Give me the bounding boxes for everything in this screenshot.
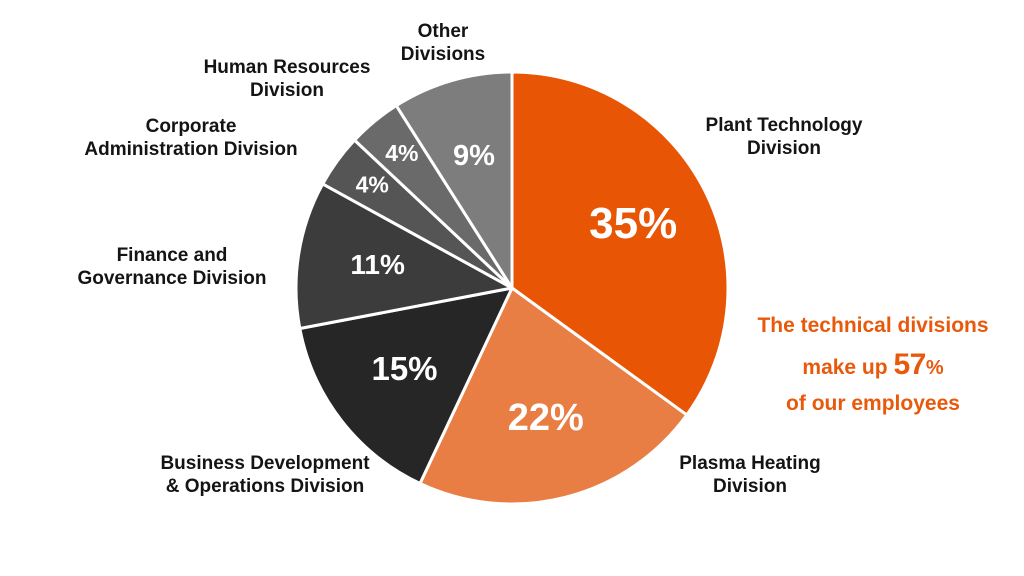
pie-value-finance-governance: 11% — [350, 249, 405, 280]
annotation-line-2-prefix: make up — [802, 356, 893, 379]
annotation-callout: The technical divisions make up 57% of o… — [728, 310, 1018, 419]
pie-value-business-development: 15% — [371, 350, 437, 387]
slice-label-plasma-heating: Plasma Heating Division — [655, 452, 845, 498]
slice-label-business-development: Business Development & Operations Divisi… — [140, 452, 390, 498]
pie-slices — [296, 72, 728, 504]
slice-label-finance-governance: Finance and Governance Division — [62, 244, 282, 290]
pie-value-plant-technology: 35% — [589, 199, 677, 248]
pie-chart: 35%22%15%11%4%4%9% Other Divisions Human… — [0, 0, 1024, 576]
annotation-line-1: The technical divisions — [728, 310, 1018, 342]
slice-label-other-divisions: Other Divisions — [383, 20, 503, 66]
annotation-line-2: make up 57% — [728, 342, 1018, 388]
annotation-percent-sign: % — [926, 357, 944, 379]
slice-label-corporate-administration: Corporate Administration Division — [66, 115, 316, 161]
slice-label-plant-technology: Plant Technology Division — [684, 114, 884, 160]
annotation-line-3: of our employees — [728, 388, 1018, 420]
annotation-highlight-value: 57 — [893, 348, 925, 381]
pie-value-corporate-administration: 4% — [356, 171, 389, 197]
pie-value-other-divisions: 9% — [453, 140, 495, 172]
slice-label-human-resources: Human Resources Division — [182, 56, 392, 102]
pie-value-plasma-heating: 22% — [508, 397, 584, 439]
pie-value-human-resources: 4% — [385, 140, 418, 166]
